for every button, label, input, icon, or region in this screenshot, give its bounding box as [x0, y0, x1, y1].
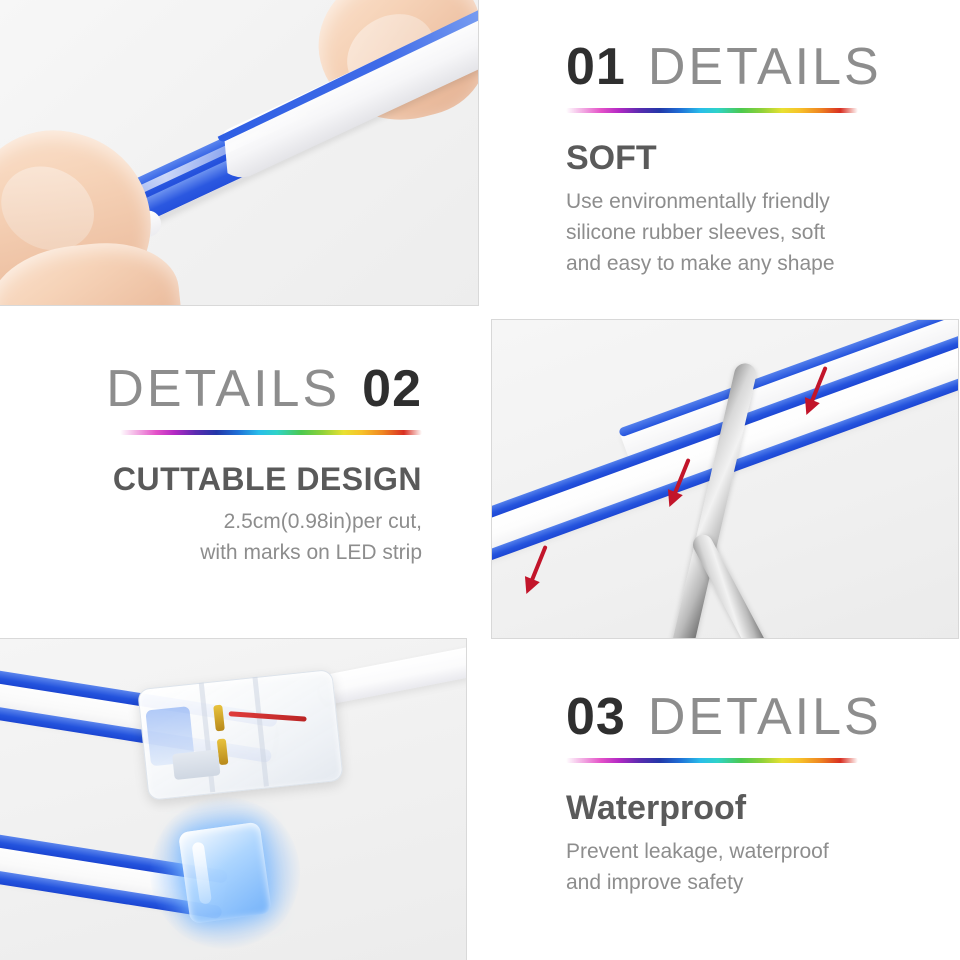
section-02-body-line-1: 2.5cm(0.98in)per cut,: [62, 506, 422, 537]
connector-window: [172, 749, 220, 780]
section-01-number: 01: [566, 38, 626, 96]
infographic-page: 01 DETAILS SOFT Use environmentally frie…: [0, 0, 960, 960]
section-02-heading: DETAILS 02: [62, 360, 422, 418]
photo-waterproof-connector: [0, 638, 467, 960]
section-02-body-line-2: with marks on LED strip: [62, 537, 422, 568]
section-03-rainbow-divider: [566, 758, 858, 763]
end-cap-body: [178, 822, 272, 925]
section-01-body: Use environmentally friendly silicone ru…: [566, 186, 926, 279]
section-03-body-line-1: Prevent leakage, waterproof: [566, 836, 926, 867]
section-03-details-label: DETAILS: [648, 688, 882, 746]
power-cable: [317, 642, 467, 706]
section-01-details-label: DETAILS: [648, 38, 882, 96]
section-02-number: 02: [362, 360, 422, 418]
section-02-subtitle: CUTTABLE DESIGN: [62, 461, 422, 498]
arrow-head: [519, 576, 540, 597]
section-03-body: Prevent leakage, waterproof and improve …: [566, 836, 926, 898]
waterproof-connector: [135, 651, 343, 811]
section-01-body-line-3: and easy to make any shape: [566, 248, 926, 279]
section-01-text: 01 DETAILS SOFT Use environmentally frie…: [566, 38, 926, 279]
section-03-number: 03: [566, 688, 626, 746]
section-03-subtitle: Waterproof: [566, 789, 926, 828]
section-02-body: 2.5cm(0.98in)per cut, with marks on LED …: [62, 506, 422, 568]
section-02-details-label: DETAILS: [106, 360, 340, 418]
photo-cuttable-scissors: [491, 319, 959, 639]
photo-soft-strip: [0, 0, 479, 306]
section-03-text: 03 DETAILS Waterproof Prevent leakage, w…: [566, 688, 926, 898]
section-03-heading: 03 DETAILS: [566, 688, 926, 746]
section-03-body-line-2: and improve safety: [566, 867, 926, 898]
section-02-rainbow-divider: [120, 430, 422, 435]
section-01-rainbow-divider: [566, 108, 858, 113]
section-01-body-line-1: Use environmentally friendly: [566, 186, 926, 217]
section-02-text: DETAILS 02 CUTTABLE DESIGN 2.5cm(0.98in)…: [62, 360, 422, 568]
section-01-body-line-2: silicone rubber sleeves, soft: [566, 217, 926, 248]
section-01-heading: 01 DETAILS: [566, 38, 926, 96]
glowing-end-cap: [164, 808, 283, 937]
section-01-subtitle: SOFT: [566, 139, 926, 178]
